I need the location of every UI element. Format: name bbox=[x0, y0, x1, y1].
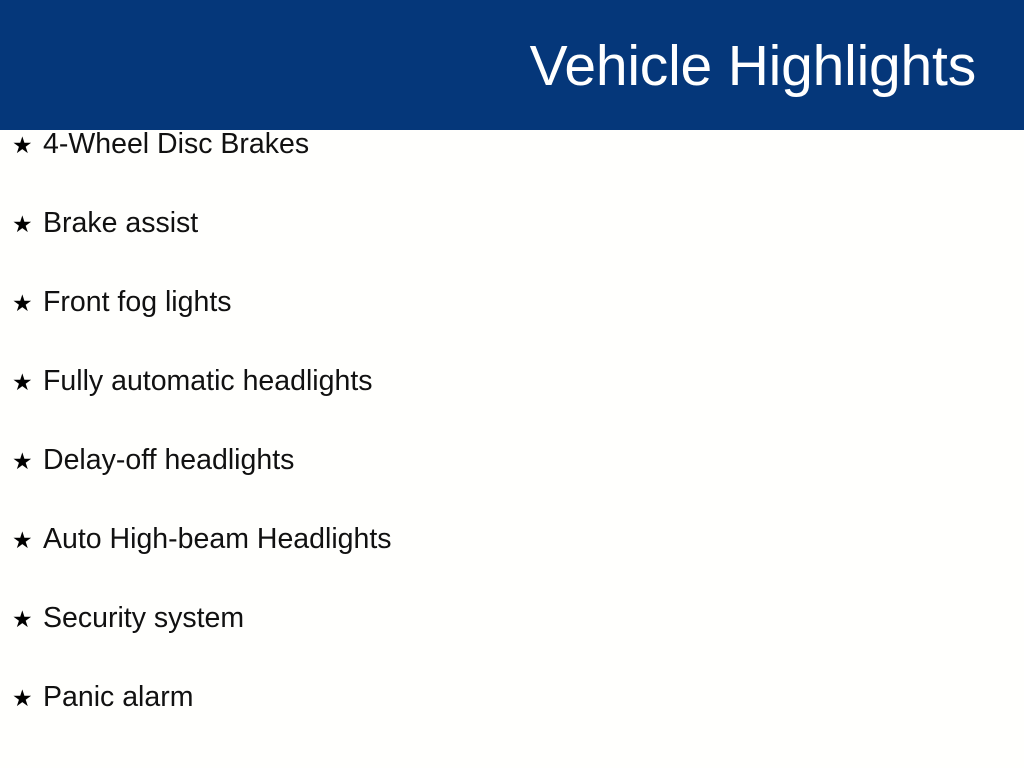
page-title: Vehicle Highlights bbox=[530, 37, 976, 97]
star-icon: ★ bbox=[12, 135, 43, 158]
highlight-label: Panic alarm bbox=[43, 683, 193, 712]
list-item: ★ Delay-off headlights bbox=[0, 446, 1024, 525]
star-icon: ★ bbox=[12, 372, 43, 395]
star-icon: ★ bbox=[12, 293, 43, 316]
list-item: ★ Front fog lights bbox=[0, 288, 1024, 367]
star-icon: ★ bbox=[12, 451, 43, 474]
vehicle-highlights-slide: Vehicle Highlights ★ 4-Wheel Disc Brakes… bbox=[0, 0, 1024, 768]
highlight-label: Front fog lights bbox=[43, 288, 232, 317]
star-icon: ★ bbox=[12, 530, 43, 553]
highlight-label: Auto High-beam Headlights bbox=[43, 525, 392, 554]
star-icon: ★ bbox=[12, 214, 43, 237]
vehicle-highlights-list: ★ 4-Wheel Disc Brakes ★ Brake assist ★ F… bbox=[0, 130, 1024, 762]
star-icon: ★ bbox=[12, 609, 43, 632]
highlight-label: Delay-off headlights bbox=[43, 446, 294, 475]
list-item: ★ Brake assist bbox=[0, 209, 1024, 288]
star-icon: ★ bbox=[12, 688, 43, 711]
highlight-label: Fully automatic headlights bbox=[43, 367, 373, 396]
slide-header-band: Vehicle Highlights bbox=[0, 0, 1024, 130]
list-item: ★ Auto High-beam Headlights bbox=[0, 525, 1024, 604]
list-item: ★ 4-Wheel Disc Brakes bbox=[0, 130, 1024, 209]
highlight-label: Security system bbox=[43, 604, 244, 633]
highlight-label: Brake assist bbox=[43, 209, 198, 238]
list-item: ★ Panic alarm bbox=[0, 683, 1024, 762]
highlight-label: 4-Wheel Disc Brakes bbox=[43, 130, 309, 159]
list-item: ★ Security system bbox=[0, 604, 1024, 683]
list-item: ★ Fully automatic headlights bbox=[0, 367, 1024, 446]
